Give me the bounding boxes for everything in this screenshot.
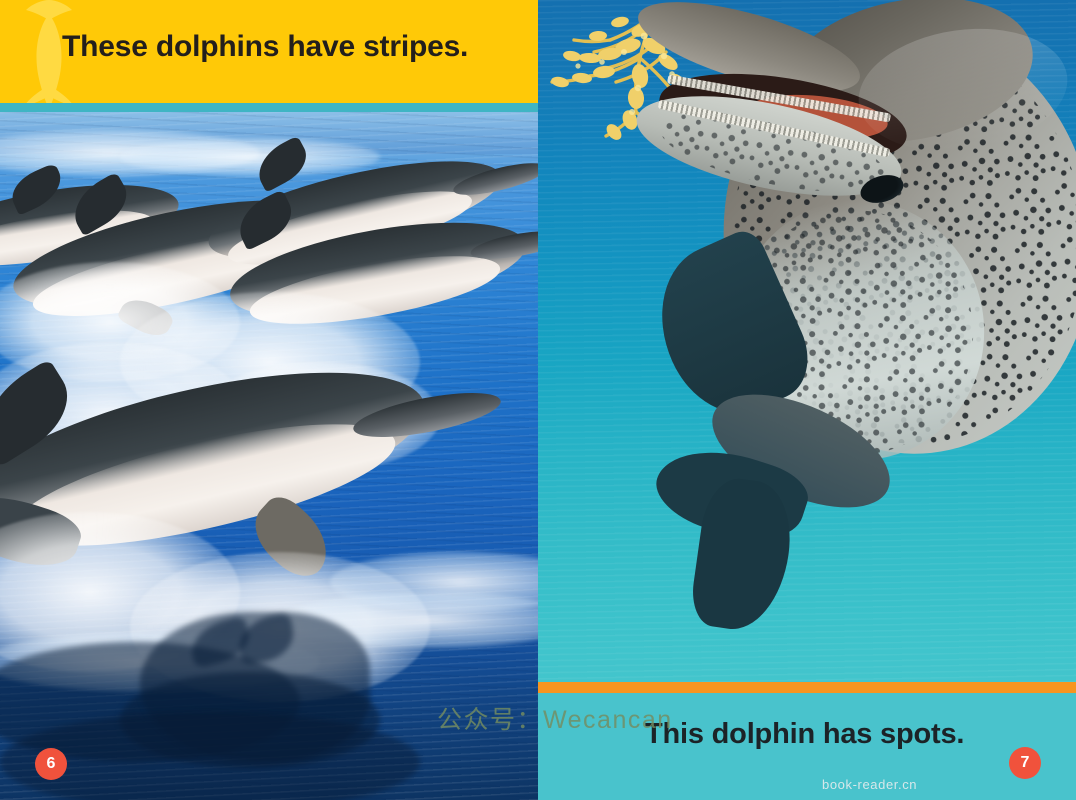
page-caption: This dolphin has spots.	[645, 718, 964, 751]
page-number-left: 6	[35, 748, 67, 780]
caption-band: This dolphin has spots.	[538, 693, 1076, 800]
foam-patch	[120, 138, 380, 176]
right-page: This dolphin has spots. 7	[538, 0, 1076, 800]
title-band: These dolphins have stripes.	[0, 0, 538, 103]
teal-divider-strip	[0, 103, 538, 112]
spotted-dolphin-photo	[538, 0, 1076, 682]
orange-divider-rule	[538, 682, 1076, 693]
book-spread: These dolphins have stripes.	[0, 0, 1076, 800]
left-page: These dolphins have stripes.	[0, 0, 538, 800]
striped-dolphins-photo	[0, 112, 538, 800]
page-number-right: 7	[1009, 747, 1041, 779]
page-title: These dolphins have stripes.	[62, 30, 468, 64]
